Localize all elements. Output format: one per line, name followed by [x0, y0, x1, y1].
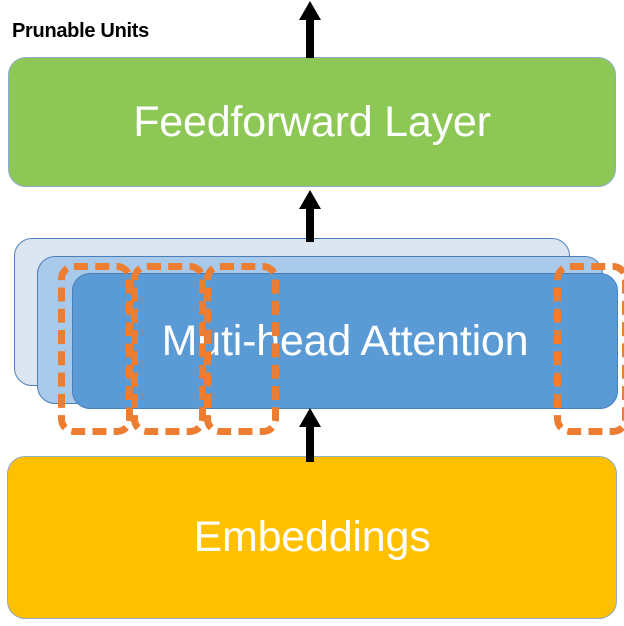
arrow-attention-to-feedforward-icon: [290, 186, 330, 244]
prunable-unit-box-1: [58, 263, 133, 435]
feedforward-layer-block: Feedforward Layer: [8, 57, 616, 187]
embeddings-block: Embeddings: [7, 456, 617, 619]
arrow-embeddings-to-attention-icon: [290, 404, 330, 464]
prunable-unit-box-2: [131, 263, 206, 435]
feedforward-layer-label: Feedforward Layer: [133, 101, 491, 144]
prunable-units-label: Prunable Units: [12, 20, 149, 43]
embeddings-label: Embeddings: [193, 516, 430, 559]
prunable-unit-box-3: [204, 263, 279, 435]
prunable-unit-box-4: [554, 263, 624, 435]
arrow-output-icon: [290, 0, 330, 60]
diagram-canvas: Prunable Units Feedforward Layer Muti-he…: [0, 0, 624, 626]
